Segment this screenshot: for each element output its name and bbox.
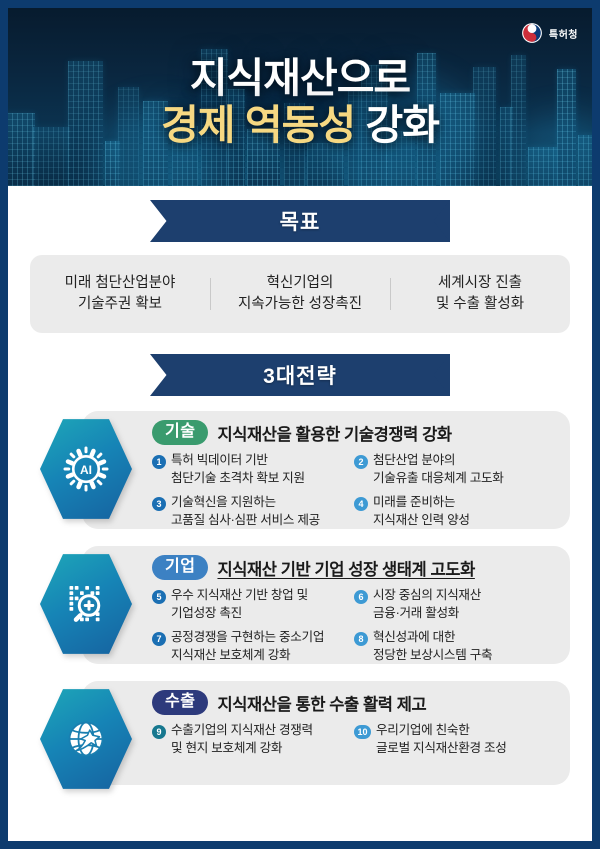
- goal-item: 혁신기업의 지속가능한 성장촉진: [210, 273, 390, 315]
- strategy-block: AI기술지식재산을 활용한 기술경쟁력 강화1특허 빅데이터 기반첨단기술 초격…: [30, 411, 570, 529]
- strategy-items: 9수출기업의 지식재산 경쟁력및 현지 보호체계 강화10우리기업에 친숙한글로…: [152, 722, 556, 764]
- strategy-banner-label: 3대전략: [263, 360, 337, 390]
- hero-title-rest: 강화: [365, 102, 438, 148]
- strategy-body: 기술지식재산을 활용한 기술경쟁력 강화1특허 빅데이터 기반첨단기술 초격차 …: [152, 420, 556, 536]
- item-number-badge: 10: [354, 725, 371, 739]
- goal-line1: 미래 첨단산업분야: [30, 273, 210, 294]
- logo-label: 특허청: [549, 26, 578, 41]
- goal-line2: 기술주권 확보: [30, 294, 210, 315]
- item-text: 기술혁신을 지원하는고품질 심사·심판 서비스 제공: [171, 494, 320, 530]
- poster-frame: 특허청 지식재산으로 경제 역동성 강화 목표 미래 첨단산업분야 기술주권 확…: [8, 8, 592, 841]
- strategy-body: 기업지식재산 기반 기업 성장 생태계 고도화5우수 지식재산 기반 창업 및기…: [152, 555, 556, 671]
- strategy-items: 1특허 빅데이터 기반첨단기술 초격차 확보 지원2첨단산업 분야의기술유출 대…: [152, 452, 556, 536]
- item-line2: 기업성장 촉진: [171, 605, 308, 623]
- strategy-section: 3대전략 AI기술지식재산을 활용한 기술경쟁력 강화1특허 빅데이터 기반첨단…: [8, 354, 592, 785]
- strategy-item: 1특허 빅데이터 기반첨단기술 초격차 확보 지원: [152, 452, 354, 488]
- item-number-badge: 3: [152, 497, 166, 511]
- strategy-block: 수출지식재산을 통한 수출 활력 제고9수출기업의 지식재산 경쟁력및 현지 보…: [30, 681, 570, 785]
- item-line1: 우리기업에 친숙한: [376, 722, 507, 740]
- item-line1: 시장 중심의 지식재산: [373, 587, 481, 605]
- item-number-badge: 7: [152, 632, 166, 646]
- item-text: 미래를 준비하는지식재산 인력 양성: [373, 494, 470, 530]
- strategy-title: 지식재산 기반 기업 성장 생태계 고도화: [217, 556, 474, 580]
- svg-text:AI: AI: [80, 463, 92, 477]
- goal-item: 미래 첨단산업분야 기술주권 확보: [30, 273, 210, 315]
- strategy-title: 지식재산을 통한 수출 활력 제고: [217, 691, 426, 715]
- strategy-icon-hex: [40, 552, 132, 656]
- item-text: 수출기업의 지식재산 경쟁력및 현지 보호체계 강화: [171, 722, 313, 758]
- item-line1: 첨단산업 분야의: [373, 452, 504, 470]
- item-number-badge: 8: [354, 632, 368, 646]
- strategy-items: 5우수 지식재산 기반 창업 및기업성장 촉진6시장 중심의 지식재산금융·거래…: [152, 587, 556, 671]
- qr-magnifier-icon: [40, 552, 132, 656]
- item-number-badge: 5: [152, 590, 166, 604]
- strategy-item: 3기술혁신을 지원하는고품질 심사·심판 서비스 제공: [152, 494, 354, 530]
- strategy-pill: 수출: [152, 690, 208, 715]
- item-text: 우수 지식재산 기반 창업 및기업성장 촉진: [171, 587, 308, 623]
- goals-box: 미래 첨단산업분야 기술주권 확보 혁신기업의 지속가능한 성장촉진 세계시장 …: [30, 255, 570, 333]
- goal-line2: 및 수출 활성화: [390, 294, 570, 315]
- goals-banner: 목표: [150, 200, 450, 242]
- strategy-item: 7공정경쟁을 구현하는 중소기업지식재산 보호체계 강화: [152, 629, 354, 665]
- item-line1: 기술혁신을 지원하는: [171, 494, 320, 512]
- goals-banner-label: 목표: [280, 206, 321, 236]
- item-line2: 및 현지 보호체계 강화: [171, 740, 313, 758]
- item-text: 특허 빅데이터 기반첨단기술 초격차 확보 지원: [171, 452, 305, 488]
- kipo-logo: 특허청: [521, 22, 578, 44]
- strategy-head: 기술지식재산을 활용한 기술경쟁력 강화: [152, 420, 556, 445]
- item-text: 우리기업에 친숙한글로벌 지식재산환경 조성: [376, 722, 507, 758]
- item-line1: 혁신성과에 대한: [373, 629, 492, 647]
- hero-header: 특허청 지식재산으로 경제 역동성 강화: [8, 8, 592, 186]
- item-line2: 지식재산 인력 양성: [373, 512, 470, 530]
- item-line2: 정당한 보상시스템 구축: [373, 647, 492, 665]
- hero-title-line1: 지식재산으로: [8, 58, 592, 100]
- item-number-badge: 4: [354, 497, 368, 511]
- item-number-badge: 6: [354, 590, 368, 604]
- item-line1: 우수 지식재산 기반 창업 및: [171, 587, 308, 605]
- item-line2: 금융·거래 활성화: [373, 605, 481, 623]
- item-line2: 지식재산 보호체계 강화: [171, 647, 324, 665]
- strategy-pill: 기술: [152, 420, 208, 445]
- strategy-item: 2첨단산업 분야의기술유출 대응체계 고도화: [354, 452, 556, 488]
- item-line2: 글로벌 지식재산환경 조성: [376, 740, 507, 758]
- goal-line2: 지속가능한 성장촉진: [210, 294, 390, 315]
- strategy-head: 수출지식재산을 통한 수출 활력 제고: [152, 690, 556, 715]
- item-text: 시장 중심의 지식재산금융·거래 활성화: [373, 587, 481, 623]
- globe-airplane-icon: [40, 687, 132, 791]
- item-line2: 고품질 심사·심판 서비스 제공: [171, 512, 320, 530]
- strategy-body: 수출지식재산을 통한 수출 활력 제고9수출기업의 지식재산 경쟁력및 현지 보…: [152, 690, 556, 764]
- item-number-badge: 1: [152, 455, 166, 469]
- hero-title-highlight: 경제 역동성: [161, 102, 355, 148]
- item-text: 공정경쟁을 구현하는 중소기업지식재산 보호체계 강화: [171, 629, 324, 665]
- goal-line1: 혁신기업의: [210, 273, 390, 294]
- item-text: 첨단산업 분야의기술유출 대응체계 고도화: [373, 452, 504, 488]
- item-line2: 기술유출 대응체계 고도화: [373, 470, 504, 488]
- strategy-item: 4미래를 준비하는지식재산 인력 양성: [354, 494, 556, 530]
- item-line1: 수출기업의 지식재산 경쟁력: [171, 722, 313, 740]
- strategy-banner-wrap: 3대전략: [8, 354, 592, 396]
- strategy-blocks: AI기술지식재산을 활용한 기술경쟁력 강화1특허 빅데이터 기반첨단기술 초격…: [8, 411, 592, 785]
- strategy-item: 10우리기업에 친숙한글로벌 지식재산환경 조성: [354, 722, 556, 758]
- strategy-banner: 3대전략: [150, 354, 450, 396]
- strategy-item: 5우수 지식재산 기반 창업 및기업성장 촉진: [152, 587, 354, 623]
- item-line2: 첨단기술 초격차 확보 지원: [171, 470, 305, 488]
- strategy-item: 6시장 중심의 지식재산금융·거래 활성화: [354, 587, 556, 623]
- item-text: 혁신성과에 대한정당한 보상시스템 구축: [373, 629, 492, 665]
- strategy-item: 9수출기업의 지식재산 경쟁력및 현지 보호체계 강화: [152, 722, 354, 758]
- strategy-icon-hex: AI: [40, 417, 132, 521]
- strategy-icon-hex: [40, 687, 132, 791]
- strategy-pill: 기업: [152, 555, 208, 580]
- goal-line1: 세계시장 진출: [390, 273, 570, 294]
- item-line1: 특허 빅데이터 기반: [171, 452, 305, 470]
- goals-banner-wrap: 목표: [8, 200, 592, 242]
- strategy-head: 기업지식재산 기반 기업 성장 생태계 고도화: [152, 555, 556, 580]
- item-number-badge: 2: [354, 455, 368, 469]
- hero-title-line2: 경제 역동성 강화: [8, 105, 592, 147]
- goal-item: 세계시장 진출 및 수출 활성화: [390, 273, 570, 315]
- goals-section: 목표 미래 첨단산업분야 기술주권 확보 혁신기업의 지속가능한 성장촉진 세계…: [8, 186, 592, 333]
- ai-chip-icon: AI: [40, 417, 132, 521]
- strategy-block: 기업지식재산 기반 기업 성장 생태계 고도화5우수 지식재산 기반 창업 및기…: [30, 546, 570, 664]
- taegeuk-icon: [521, 22, 543, 44]
- strategy-title: 지식재산을 활용한 기술경쟁력 강화: [217, 421, 451, 445]
- item-line1: 공정경쟁을 구현하는 중소기업: [171, 629, 324, 647]
- item-line1: 미래를 준비하는: [373, 494, 470, 512]
- hero-title: 지식재산으로 경제 역동성 강화: [8, 58, 592, 147]
- item-number-badge: 9: [152, 725, 166, 739]
- strategy-item: 8혁신성과에 대한정당한 보상시스템 구축: [354, 629, 556, 665]
